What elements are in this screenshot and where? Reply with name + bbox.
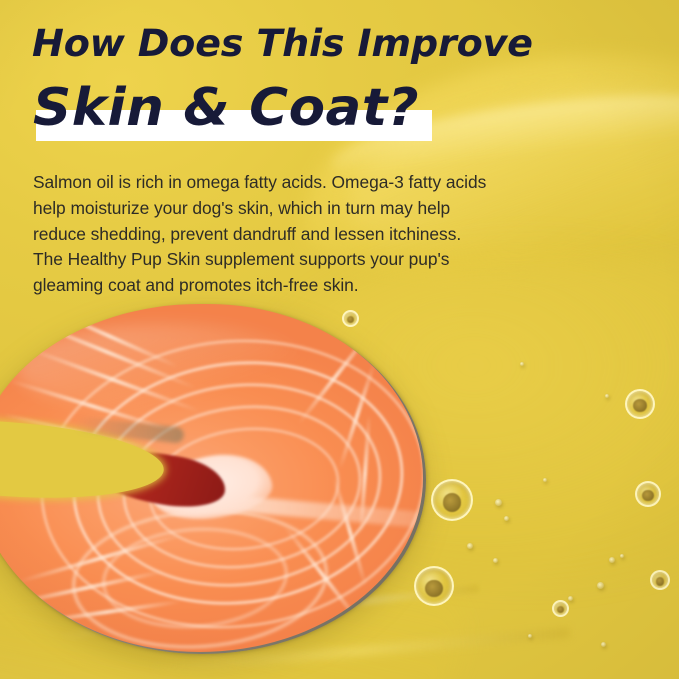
oil-bubble xyxy=(431,479,473,521)
oil-microdroplet xyxy=(601,642,606,647)
oil-bubble-core xyxy=(633,399,646,412)
body-paragraph: Salmon oil is rich in omega fatty acids.… xyxy=(33,170,633,299)
body-line: Salmon oil is rich in omega fatty acids.… xyxy=(33,170,633,196)
oil-bubble xyxy=(635,481,661,507)
oil-microdroplet xyxy=(568,596,573,601)
infographic-canvas: How Does This Improve Skin & Coat? Salmo… xyxy=(0,0,679,679)
oil-microdroplet xyxy=(495,499,502,506)
oil-bubble xyxy=(625,389,655,419)
oil-microdroplet xyxy=(467,543,473,549)
oil-microdroplet xyxy=(493,558,498,563)
oil-bubble-core xyxy=(443,493,461,511)
oil-microdroplet xyxy=(520,362,524,366)
oil-bubble xyxy=(650,570,670,590)
body-line: reduce shedding, prevent dandruff and le… xyxy=(33,222,633,248)
oil-bubble xyxy=(342,310,359,327)
body-line: help moisturize your dog's skin, which i… xyxy=(33,196,633,222)
oil-bubble xyxy=(414,566,454,606)
oil-bubble-core xyxy=(656,577,665,586)
body-line: gleaming coat and promotes itch-free ski… xyxy=(33,273,633,299)
oil-microdroplet xyxy=(528,634,532,638)
salmon-steak-image xyxy=(0,296,444,679)
salmon-steak-shape xyxy=(0,296,434,668)
headline-line-2: Skin & Coat? xyxy=(33,78,419,138)
headline-line-1: How Does This Improve xyxy=(32,22,533,65)
oil-bubble-core xyxy=(425,580,443,598)
oil-microdroplet xyxy=(504,516,509,521)
oil-bubble xyxy=(552,600,569,617)
oil-microdroplet xyxy=(609,557,615,563)
oil-microdroplet xyxy=(605,394,609,398)
oil-microdroplet xyxy=(620,554,624,558)
oil-microdroplet xyxy=(597,582,604,589)
oil-bubble-core xyxy=(642,490,653,501)
oil-microdroplet xyxy=(543,478,547,482)
body-line: The Healthy Pup Skin supplement supports… xyxy=(33,247,633,273)
